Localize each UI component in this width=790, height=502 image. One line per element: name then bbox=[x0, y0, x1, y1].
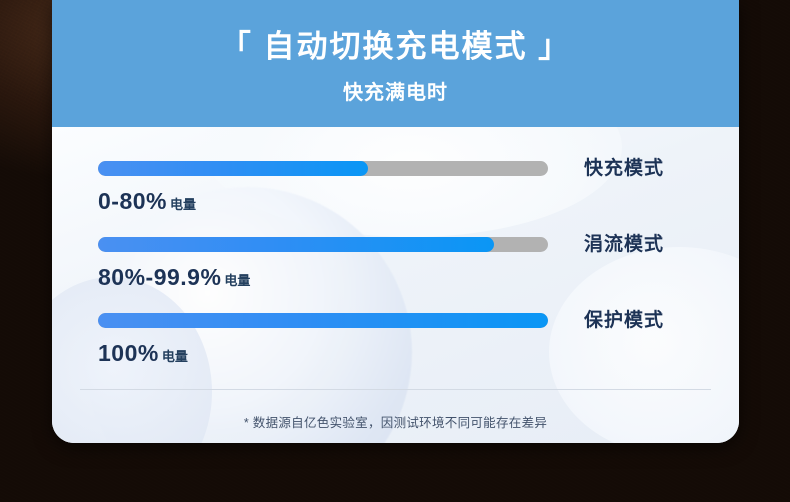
progress-fill bbox=[98, 313, 548, 328]
row-mode-group: 涓流模式 bbox=[548, 237, 693, 252]
row-bar-group: 80%-99.9% 电量 bbox=[98, 237, 548, 291]
card-footer: * 数据源自亿色实验室，因测试环境不同可能存在差异 bbox=[52, 389, 739, 431]
row-value: 80%-99.9% 电量 bbox=[98, 264, 548, 291]
list-item: 0-80% 电量 快充模式 bbox=[52, 161, 739, 215]
progress-track bbox=[98, 237, 548, 252]
mode-label: 涓流模式 bbox=[584, 237, 693, 252]
page-title: 「 自动切换充电模式 」 bbox=[220, 28, 571, 67]
progress-track bbox=[98, 313, 548, 328]
value-number: 0-80% bbox=[98, 188, 167, 215]
charging-mode-card: 「 自动切换充电模式 」 快充满电时 0-80% 电量 快充模式 bbox=[52, 0, 739, 443]
page-subtitle: 快充满电时 bbox=[343, 76, 448, 105]
mode-label: 保护模式 bbox=[584, 313, 693, 328]
row-mode-group: 快充模式 bbox=[548, 161, 693, 176]
value-number: 80%-99.9% bbox=[98, 264, 221, 291]
mode-label: 快充模式 bbox=[584, 161, 693, 176]
card-body: 0-80% 电量 快充模式 80%-99.9% 电量 bbox=[52, 127, 739, 443]
row-value: 100% 电量 bbox=[98, 340, 548, 367]
value-unit: 电量 bbox=[224, 270, 250, 289]
progress-fill bbox=[98, 237, 494, 252]
value-number: 100% bbox=[98, 340, 159, 367]
row-bar-group: 100% 电量 bbox=[98, 313, 548, 367]
footnote-text: * 数据源自亿色实验室，因测试环境不同可能存在差异 bbox=[52, 390, 739, 431]
list-item: 100% 电量 保护模式 bbox=[52, 313, 739, 367]
value-unit: 电量 bbox=[162, 346, 188, 365]
card-header: 「 自动切换充电模式 」 快充满电时 bbox=[52, 0, 739, 127]
progress-track bbox=[98, 161, 548, 176]
charging-mode-list: 0-80% 电量 快充模式 80%-99.9% 电量 bbox=[52, 127, 739, 367]
value-unit: 电量 bbox=[170, 194, 196, 213]
list-item: 80%-99.9% 电量 涓流模式 bbox=[52, 237, 739, 291]
progress-fill bbox=[98, 161, 368, 176]
row-bar-group: 0-80% 电量 bbox=[98, 161, 548, 215]
row-value: 0-80% 电量 bbox=[98, 188, 548, 215]
row-mode-group: 保护模式 bbox=[548, 313, 693, 328]
